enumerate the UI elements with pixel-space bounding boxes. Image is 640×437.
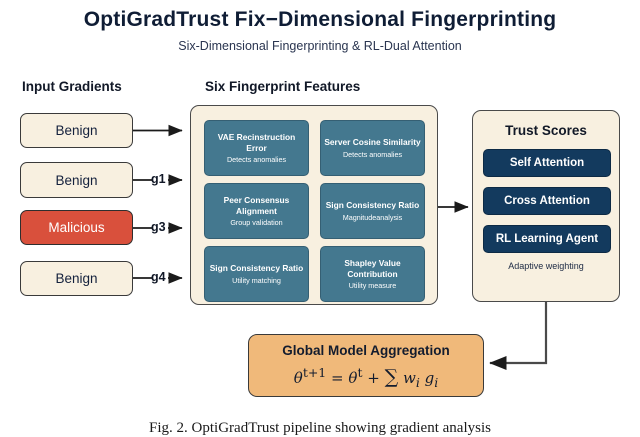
formula-gradient: gi — [425, 369, 439, 387]
feature-name: Shapley Value Contribution — [324, 258, 421, 279]
feature-name: Sign Consistency Ratio — [326, 200, 420, 211]
edge-label-g4: g4 — [151, 270, 166, 284]
formula-equals: = — [331, 369, 344, 387]
feature-sub: Detects anomalies — [227, 155, 286, 164]
aggregation-formula: θt+1 = θt + ∑ wi gi — [249, 365, 483, 390]
edge-label-g3: g3 — [151, 220, 166, 234]
input-node-benign-2[interactable]: Benign — [20, 162, 133, 198]
trust-item-cross-attention[interactable]: Cross Attention — [483, 187, 611, 215]
feature-sub: Detects anomalies — [343, 150, 402, 159]
edge-label-g1: g1 — [151, 172, 166, 186]
feature-cell-vae-reconstruction-error[interactable]: VAE Recinstruction Error Detects anomali… — [204, 120, 309, 176]
aggregation-title: Global Model Aggregation — [249, 343, 483, 358]
feature-name: Sign Consistency Ratio — [210, 263, 304, 274]
formula-theta-cur: θt — [348, 369, 367, 387]
trust-scores-heading: Trust Scores — [473, 123, 619, 138]
figure-caption: Fig. 2. OptiGradTrust pipeline showing g… — [0, 420, 640, 437]
features-panel: VAE Recinstruction Error Detects anomali… — [190, 105, 438, 305]
edge-trust-to-aggregation — [490, 302, 546, 363]
input-node-malicious[interactable]: Malicious — [20, 210, 133, 245]
adaptive-weighting-note: Adaptive weighting — [473, 261, 619, 271]
feature-cell-sign-consistency-ratio-utility[interactable]: Sign Consistency Ratio Utility matching — [204, 246, 309, 302]
formula-theta-next: θt+1 — [294, 369, 331, 387]
feature-sub: Utility measure — [349, 281, 397, 290]
trust-item-rl-learning-agent[interactable]: RL Learning Agent — [483, 225, 611, 253]
feature-cell-shapley-value-contribution[interactable]: Shapley Value Contribution Utility measu… — [320, 246, 425, 302]
input-node-benign-3[interactable]: Benign — [20, 261, 133, 296]
feature-cell-peer-consensus-alignment[interactable]: Peer Consensus Alignment Group validatio… — [204, 183, 309, 239]
global-model-aggregation-box[interactable]: Global Model Aggregation θt+1 = θt + ∑ w… — [248, 334, 484, 397]
feature-cell-server-cosine-similarity[interactable]: Server Cosine Similarity Detects anomali… — [320, 120, 425, 176]
feature-sub: Magnitudeanalysis — [343, 213, 403, 222]
feature-name: Peer Consensus Alignment — [208, 195, 305, 216]
feature-name: VAE Recinstruction Error — [208, 132, 305, 153]
feature-cell-sign-consistency-ratio-magnitude[interactable]: Sign Consistency Ratio Magnitudeanalysis — [320, 183, 425, 239]
feature-sub: Utility matching — [232, 276, 281, 285]
formula-weight: wi — [403, 369, 425, 387]
formula-plus: + — [367, 369, 380, 387]
trust-item-self-attention[interactable]: Self Attention — [483, 149, 611, 177]
feature-sub: Group validation — [230, 218, 282, 227]
input-node-benign-1[interactable]: Benign — [20, 113, 133, 148]
trust-scores-panel: Trust Scores Self Attention Cross Attent… — [472, 110, 620, 302]
figure-canvas: OptiGradTrust Fix−Dimensional Fingerprin… — [0, 0, 640, 436]
formula-sum-icon: ∑ — [385, 366, 399, 388]
feature-name: Server Cosine Similarity — [324, 137, 420, 148]
